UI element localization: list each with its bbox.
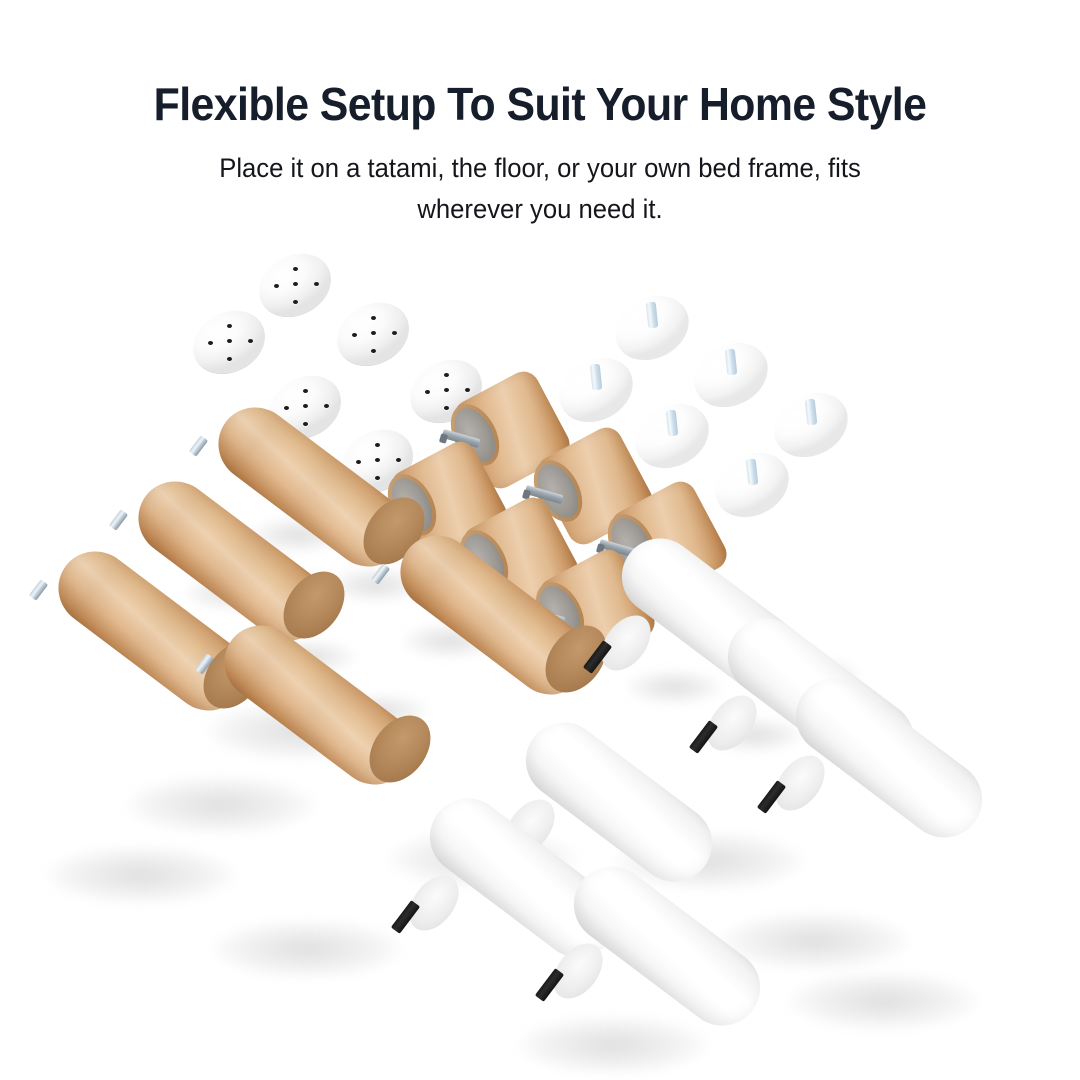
header: Flexible Setup To Suit Your Home Style P… xyxy=(0,0,1080,230)
screw-hole xyxy=(425,390,430,394)
metal-bolt xyxy=(109,509,128,530)
long-white-leg[interactable] xyxy=(546,864,796,1074)
screw-hole xyxy=(227,357,232,361)
subtitle-line-2: wherever you need it. xyxy=(27,189,1053,230)
screw-hole xyxy=(371,349,376,353)
stud-disc[interactable] xyxy=(558,352,634,428)
screw-hole xyxy=(303,389,308,393)
product-layout-scene xyxy=(0,232,1080,1080)
page-title: Flexible Setup To Suit Your Home Style xyxy=(38,0,1042,130)
mounting-disc[interactable] xyxy=(336,297,410,371)
screw-hole xyxy=(352,333,357,337)
metal-bolt xyxy=(29,579,48,600)
screw-hole xyxy=(293,300,298,304)
screw-hole xyxy=(303,404,308,408)
metal-bolt-tip xyxy=(439,433,448,444)
metal-bolt xyxy=(195,653,214,674)
screw-hole xyxy=(227,324,232,328)
screw-hole xyxy=(227,339,232,343)
long-white-leg[interactable] xyxy=(768,676,1018,886)
metal-bolt xyxy=(371,563,390,584)
page-subtitle: Place it on a tatami, the floor, or your… xyxy=(27,130,1053,230)
contact-shadow xyxy=(212,920,402,978)
screw-hole xyxy=(293,267,298,271)
screw-hole xyxy=(444,373,449,377)
screw-hole xyxy=(371,316,376,320)
screw-hole xyxy=(371,331,376,335)
mounting-disc[interactable] xyxy=(192,305,266,379)
screw-hole xyxy=(293,282,298,286)
metal-bolt xyxy=(189,435,208,456)
subtitle-line-1: Place it on a tatami, the floor, or your… xyxy=(219,153,861,183)
stud-disc[interactable] xyxy=(714,447,790,523)
mounting-disc[interactable] xyxy=(258,248,332,322)
screw-hole xyxy=(274,284,279,288)
screw-hole xyxy=(208,341,213,345)
product-feature-page: Flexible Setup To Suit Your Home Style P… xyxy=(0,0,1080,1080)
contact-shadow xyxy=(46,846,236,904)
contact-shadow xyxy=(788,972,978,1030)
